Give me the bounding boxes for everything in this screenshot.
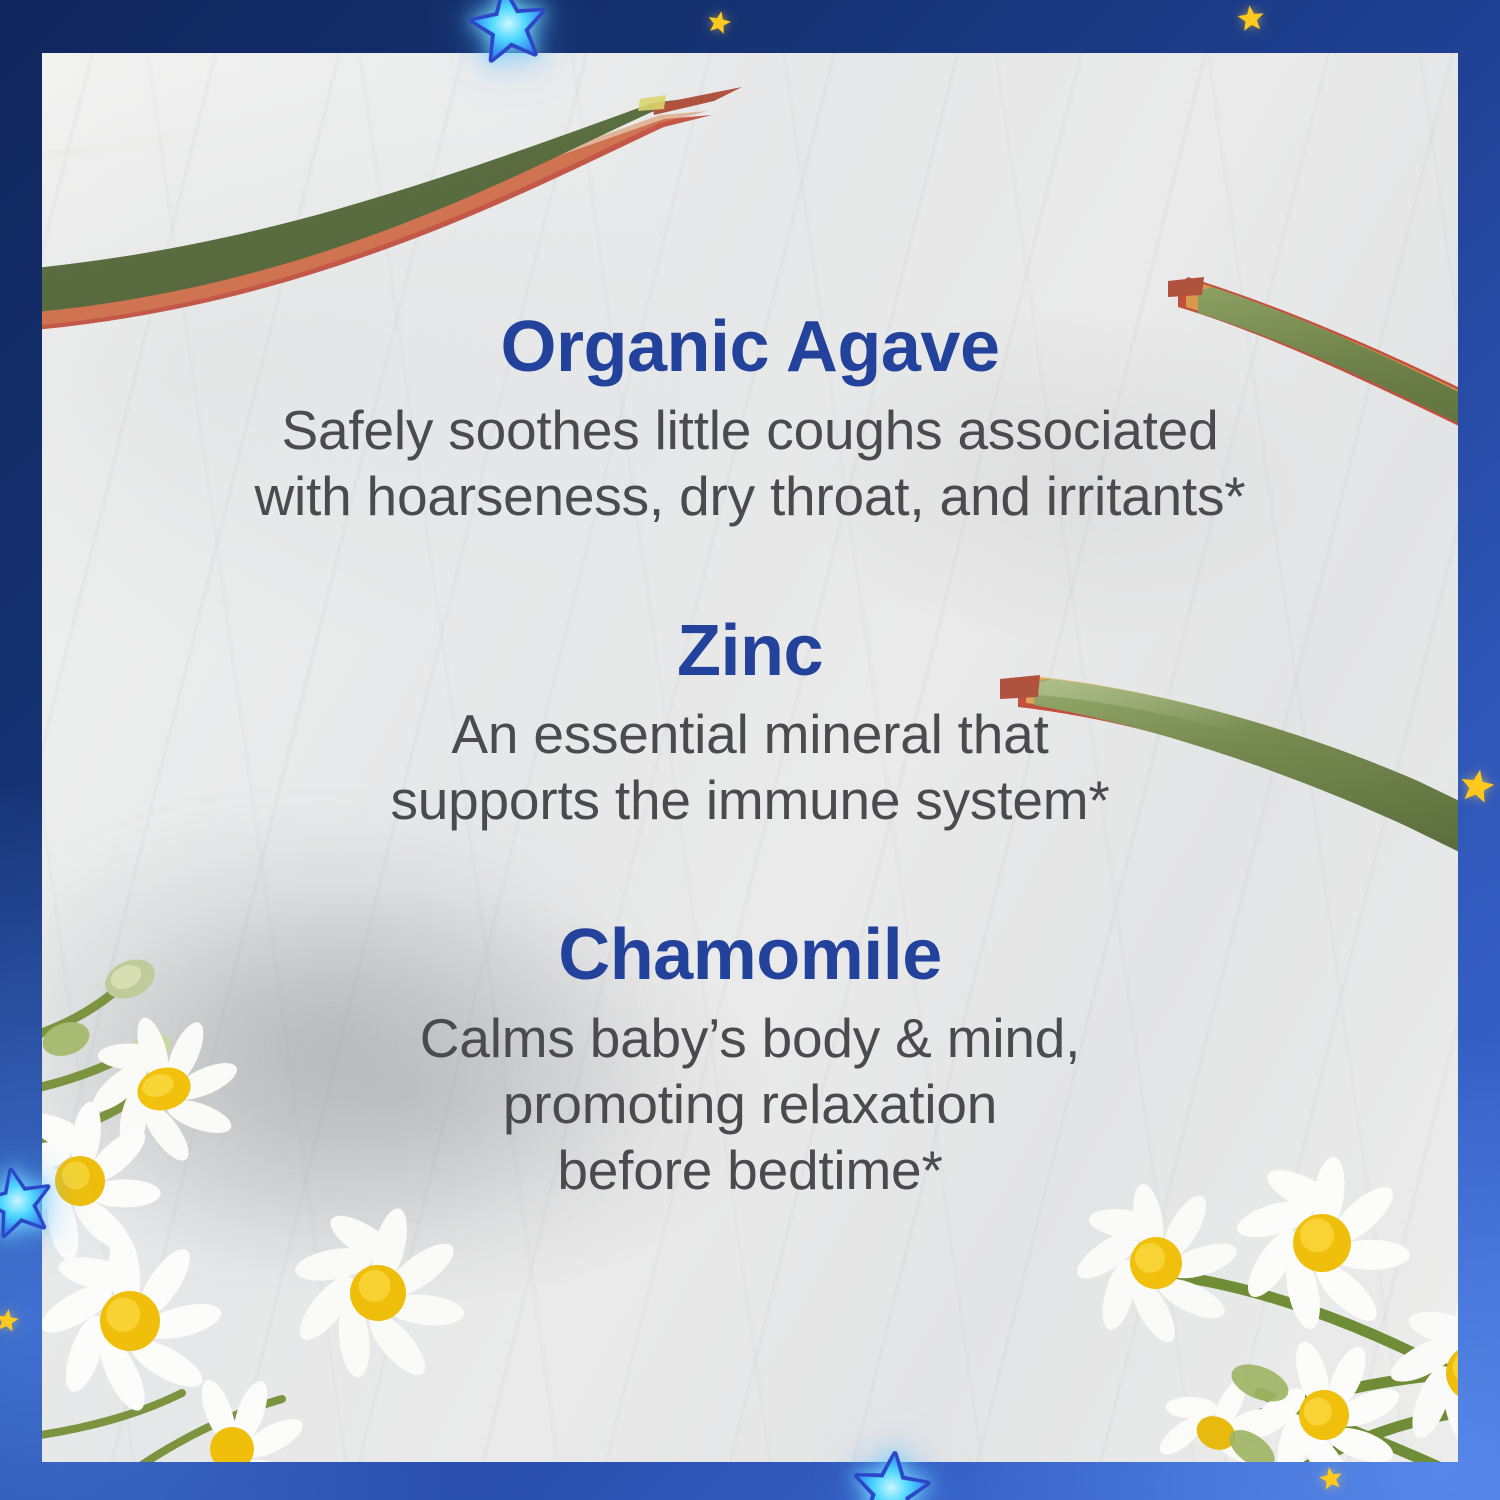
star-top-mid-gold-icon bbox=[704, 8, 735, 39]
benefit-heading-organic-agave: Organic Agave bbox=[42, 311, 1458, 383]
ingredient-benefits-poster: Organic Agave Safely soothes little coug… bbox=[0, 0, 1500, 1500]
star-bottom-right-gold-icon bbox=[1316, 1464, 1346, 1494]
benefit-line: Calms baby’s body & mind, bbox=[42, 1005, 1458, 1071]
star-right-gold-icon bbox=[1455, 765, 1499, 809]
benefit-block-zinc: Zinc An essential mineral that supports … bbox=[42, 615, 1458, 833]
star-left-low-gold-icon bbox=[0, 1306, 22, 1335]
benefit-line: with hoarseness, dry throat, and irritan… bbox=[42, 463, 1458, 529]
benefit-line: An essential mineral that bbox=[42, 701, 1458, 767]
benefit-description-organic-agave: Safely soothes little coughs associated … bbox=[42, 397, 1458, 529]
marble-photo-card: Organic Agave Safely soothes little coug… bbox=[42, 53, 1458, 1462]
benefits-text-container: Organic Agave Safely soothes little coug… bbox=[42, 53, 1458, 1462]
benefit-description-chamomile: Calms baby’s body & mind, promoting rela… bbox=[42, 1005, 1458, 1203]
benefit-line: before bedtime* bbox=[42, 1137, 1458, 1203]
benefit-line: supports the immune system* bbox=[42, 767, 1458, 833]
star-top-right-gold-icon bbox=[1235, 3, 1268, 36]
benefit-line: promoting relaxation bbox=[42, 1071, 1458, 1137]
benefit-heading-chamomile: Chamomile bbox=[42, 919, 1458, 991]
benefit-block-chamomile: Chamomile Calms baby’s body & mind, prom… bbox=[42, 919, 1458, 1203]
benefit-description-zinc: An essential mineral that supports the i… bbox=[42, 701, 1458, 833]
benefit-block-organic-agave: Organic Agave Safely soothes little coug… bbox=[42, 311, 1458, 529]
benefit-line: Safely soothes little coughs associated bbox=[42, 397, 1458, 463]
benefit-heading-zinc: Zinc bbox=[42, 615, 1458, 687]
